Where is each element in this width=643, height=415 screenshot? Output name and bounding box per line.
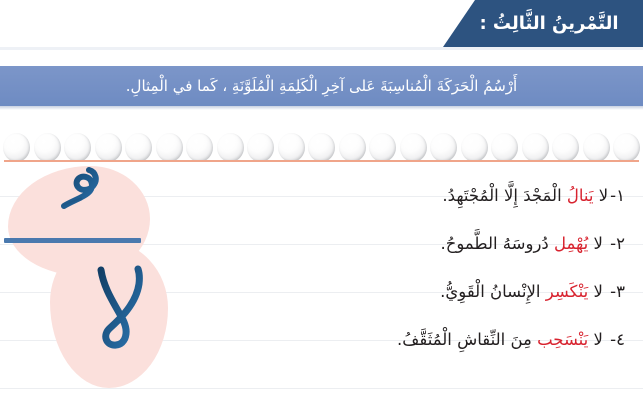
sentence-before: لا (588, 330, 608, 349)
exercise-sentence: ٤- لا يَنْسَحِب مِنَ النِّقاشِ الْمُثَقَ… (397, 329, 625, 351)
exercise-sentence: ٢- لا يُهْمِل دُروسَهُ الطَّموحُ. (440, 233, 625, 255)
damma-mark-icon (60, 165, 106, 213)
sphere-icon (186, 133, 213, 162)
sphere-icon (339, 133, 366, 162)
worksheet-page: التَّمْرينُ الثَّالِثُ : أَرْسُمُ الْحَر… (0, 0, 643, 415)
banner-underline (0, 47, 643, 50)
sphere-icon (552, 133, 579, 162)
exercise-title-banner: التَّمْرينُ الثَّالِثُ : (443, 0, 643, 47)
highlighted-word[interactable]: يَنالُ (567, 186, 594, 205)
exercise-number: ٣- (610, 282, 625, 301)
sphere-icon (3, 133, 30, 162)
exercise-number: ٢- (610, 234, 625, 253)
highlighted-word[interactable]: يُهْمِل (554, 234, 588, 253)
sphere-baseline-rule (4, 160, 639, 162)
sphere-icon (491, 133, 518, 162)
sentence-before: لا (588, 234, 608, 253)
sphere-icon (247, 133, 274, 162)
sphere-icon (156, 133, 183, 162)
sentence-before: لا (588, 282, 608, 301)
highlighted-word[interactable]: يَنْسَحِب (537, 330, 588, 349)
damma-mark-large-icon (92, 262, 148, 354)
sphere-icon (64, 133, 91, 162)
sphere-icon (34, 133, 61, 162)
sphere-icon (461, 133, 488, 162)
sphere-icon (583, 133, 610, 162)
sphere-icon (217, 133, 244, 162)
exercise-number: ٤- (610, 330, 625, 349)
sphere-icon (95, 133, 122, 162)
sphere-icon (522, 133, 549, 162)
model-underline-bar (4, 238, 141, 243)
sphere-icon (613, 133, 640, 162)
sentence-after: مِنَ النِّقاشِ الْمُثَقَّفُ. (397, 330, 537, 349)
sphere-icon (278, 133, 305, 162)
instruction-text: أَرْسُمُ الْحَرَكَةَ الْمُناسِبَةَ عَلى … (126, 77, 517, 95)
sphere-icon (400, 133, 427, 162)
sphere-icon (430, 133, 457, 162)
exercise-sentence-list: ١-لا يَنالُ الْمَجْدَ إِلَّا الْمُجْتَهِ… (213, 172, 633, 364)
sentence-before: لا (594, 186, 609, 205)
sentence-after: الْمَجْدَ إِلَّا الْمُجْتَهِدُ. (442, 186, 566, 205)
rule-line (0, 388, 643, 389)
highlighted-word[interactable]: يَنْكَسِر (546, 282, 589, 301)
instruction-bar: أَرْسُمُ الْحَرَكَةَ الْمُناسِبَةَ عَلى … (0, 64, 643, 106)
exercise-row[interactable]: ١-لا يَنالُ الْمَجْدَ إِلَّا الْمُجْتَهِ… (213, 172, 633, 220)
sphere-row-decoration (0, 131, 643, 163)
sphere-icon (125, 133, 152, 162)
exercise-row[interactable]: ٢- لا يُهْمِل دُروسَهُ الطَّموحُ. (213, 220, 633, 268)
sphere-icon (308, 133, 335, 162)
sentence-after: دُروسَهُ الطَّموحُ. (440, 234, 554, 253)
sentence-after: الإِنْسانُ الْقَوِيُّ. (440, 282, 546, 301)
sphere-icon (369, 133, 396, 162)
exercise-sentence: ٣- لا يَنْكَسِر الإِنْسانُ الْقَوِيُّ. (440, 281, 625, 303)
exercise-sentence: ١-لا يَنالُ الْمَجْدَ إِلَّا الْمُجْتَهِ… (442, 185, 625, 207)
instruction-bar-shadow (0, 106, 643, 110)
exercise-row[interactable]: ٣- لا يَنْكَسِر الإِنْسانُ الْقَوِيُّ. (213, 268, 633, 316)
exercise-row[interactable]: ٤- لا يَنْسَحِب مِنَ النِّقاشِ الْمُثَقَ… (213, 316, 633, 364)
exercise-number: ١- (610, 186, 625, 205)
page-title: التَّمْرينُ الثَّالِثُ : (479, 14, 618, 34)
